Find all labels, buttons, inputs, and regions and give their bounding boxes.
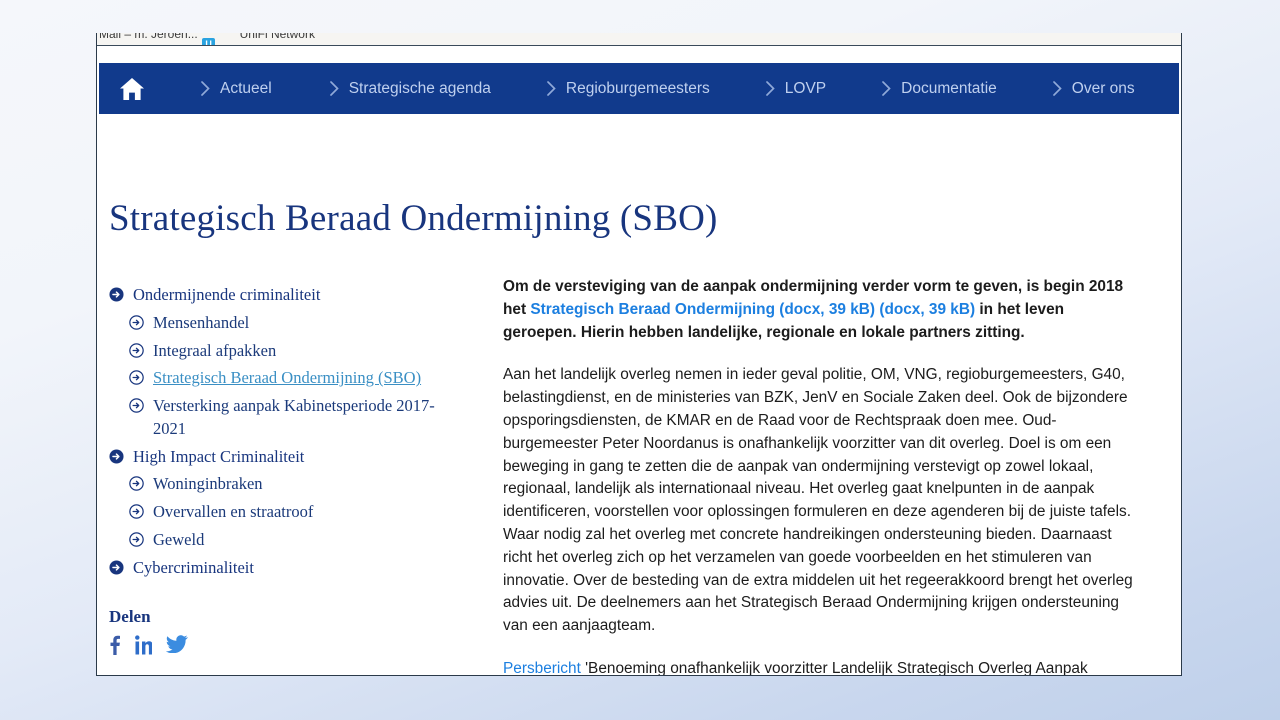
chevron-right-icon bbox=[547, 81, 556, 96]
sidebar-item-label: Integraal afpakken bbox=[153, 340, 276, 363]
chevron-right-icon bbox=[330, 81, 339, 96]
arrow-circle-outline-icon bbox=[129, 476, 144, 491]
nav-item-regioburgemeesters[interactable]: Regioburgemeesters bbox=[533, 63, 724, 114]
arrow-circle-outline-icon bbox=[129, 370, 144, 385]
sidebar-item-label: Versterking aanpak Kabinetsperiode 2017-… bbox=[153, 395, 457, 441]
arrow-circle-outline-icon bbox=[129, 504, 144, 519]
sidebar-item-cybercriminaliteit[interactable]: Cybercriminaliteit bbox=[109, 557, 457, 580]
sidebar-item-ondermijnende-criminaliteit[interactable]: Ondermijnende criminaliteit bbox=[109, 284, 457, 307]
chevron-right-icon bbox=[201, 81, 210, 96]
browser-tab-strip: Mail – m. Jeroen... U UniFi Network bbox=[97, 33, 1181, 46]
chevron-right-icon bbox=[882, 81, 891, 96]
sidebar-navigation: Ondermijnende criminaliteit Mensenhandel… bbox=[99, 274, 457, 675]
sidebar-item-label: Geweld bbox=[153, 529, 204, 552]
share-block: Delen bbox=[109, 607, 457, 655]
persbericht-link[interactable]: Persbericht bbox=[503, 660, 581, 675]
nav-item-over-ons[interactable]: Over ons bbox=[1039, 63, 1149, 114]
linkedin-icon[interactable] bbox=[135, 635, 152, 655]
page-body: Strategisch Beraad Ondermijning (SBO) On… bbox=[99, 114, 1179, 675]
nav-label: Documentatie bbox=[901, 80, 997, 98]
chevron-right-icon bbox=[766, 81, 775, 96]
sidebar-item-label: High Impact Criminaliteit bbox=[133, 446, 304, 469]
sidebar-item-label: Woninginbraken bbox=[153, 473, 263, 496]
chevron-right-icon bbox=[1053, 81, 1062, 96]
sidebar-item-integraal-afpakken[interactable]: Integraal afpakken bbox=[109, 340, 457, 363]
arrow-circle-filled-icon bbox=[109, 449, 124, 464]
sidebar-item-label: Mensenhandel bbox=[153, 312, 249, 335]
browser-tab-unifi[interactable]: UniFi Network bbox=[240, 33, 315, 40]
browser-tab-mail[interactable]: Mail – m. Jeroen... bbox=[99, 33, 198, 40]
nav-item-lovp[interactable]: LOVP bbox=[752, 63, 840, 114]
share-title: Delen bbox=[109, 607, 457, 627]
arrow-circle-filled-icon bbox=[109, 560, 124, 575]
arrow-circle-filled-icon bbox=[109, 287, 124, 302]
site-navigation-bar: Actueel Strategische agenda Regioburgeme… bbox=[99, 63, 1179, 114]
nav-label: Over ons bbox=[1072, 80, 1135, 98]
nav-item-strategische-agenda[interactable]: Strategische agenda bbox=[316, 63, 505, 114]
nav-label: Regioburgemeesters bbox=[566, 80, 710, 98]
arrow-circle-outline-icon bbox=[129, 398, 144, 413]
home-icon bbox=[119, 77, 145, 101]
page-title: Strategisch Beraad Ondermijning (SBO) bbox=[109, 197, 718, 240]
nav-item-actueel[interactable]: Actueel bbox=[187, 63, 286, 114]
arrow-circle-outline-icon bbox=[129, 315, 144, 330]
nav-label: LOVP bbox=[785, 80, 826, 98]
content-columns: Ondermijnende criminaliteit Mensenhandel… bbox=[99, 274, 1179, 675]
body-paragraph: Aan het landelijk overleg nemen in ieder… bbox=[503, 364, 1139, 638]
nav-label: Strategische agenda bbox=[349, 80, 491, 98]
press-paragraph: Persbericht 'Benoeming onafhankelijk voo… bbox=[503, 658, 1139, 675]
sidebar-item-strategisch-beraad-ondermijning[interactable]: Strategisch Beraad Ondermijning (SBO) bbox=[109, 367, 457, 390]
sidebar-item-woninginbraken[interactable]: Woninginbraken bbox=[109, 473, 457, 496]
document-download-link[interactable]: Strategisch Beraad Ondermijning (docx, 3… bbox=[530, 301, 975, 318]
twitter-icon[interactable] bbox=[166, 635, 188, 653]
sidebar-item-mensenhandel[interactable]: Mensenhandel bbox=[109, 312, 457, 335]
arrow-circle-outline-icon bbox=[129, 532, 144, 547]
sidebar-item-label: Overvallen en straatroof bbox=[153, 501, 313, 524]
home-button[interactable] bbox=[99, 63, 165, 114]
arrow-circle-outline-icon bbox=[129, 343, 144, 358]
sidebar-item-label: Strategisch Beraad Ondermijning (SBO) bbox=[153, 367, 421, 390]
facebook-icon[interactable] bbox=[109, 635, 121, 655]
press-text: 'Benoeming onafhankelijk voorzitter Land… bbox=[503, 660, 1088, 675]
sidebar-item-overvallen-en-straatroof[interactable]: Overvallen en straatroof bbox=[109, 501, 457, 524]
nav-label: Actueel bbox=[220, 80, 272, 98]
unifi-favicon-icon: U bbox=[202, 38, 215, 46]
article-content: Om de versteviging van de aanpak ondermi… bbox=[457, 274, 1179, 675]
sidebar-item-geweld[interactable]: Geweld bbox=[109, 529, 457, 552]
sidebar-item-versterking-aanpak-kabinetsperiode[interactable]: Versterking aanpak Kabinetsperiode 2017-… bbox=[109, 395, 457, 441]
sidebar-item-label: Cybercriminaliteit bbox=[133, 557, 254, 580]
nav-item-documentatie[interactable]: Documentatie bbox=[868, 63, 1011, 114]
intro-paragraph: Om de versteviging van de aanpak ondermi… bbox=[503, 276, 1139, 344]
browser-window: Mail – m. Jeroen... U UniFi Network Actu… bbox=[96, 33, 1182, 676]
sidebar-item-high-impact-criminaliteit[interactable]: High Impact Criminaliteit bbox=[109, 446, 457, 469]
sidebar-item-label: Ondermijnende criminaliteit bbox=[133, 284, 320, 307]
share-icons bbox=[109, 635, 457, 655]
